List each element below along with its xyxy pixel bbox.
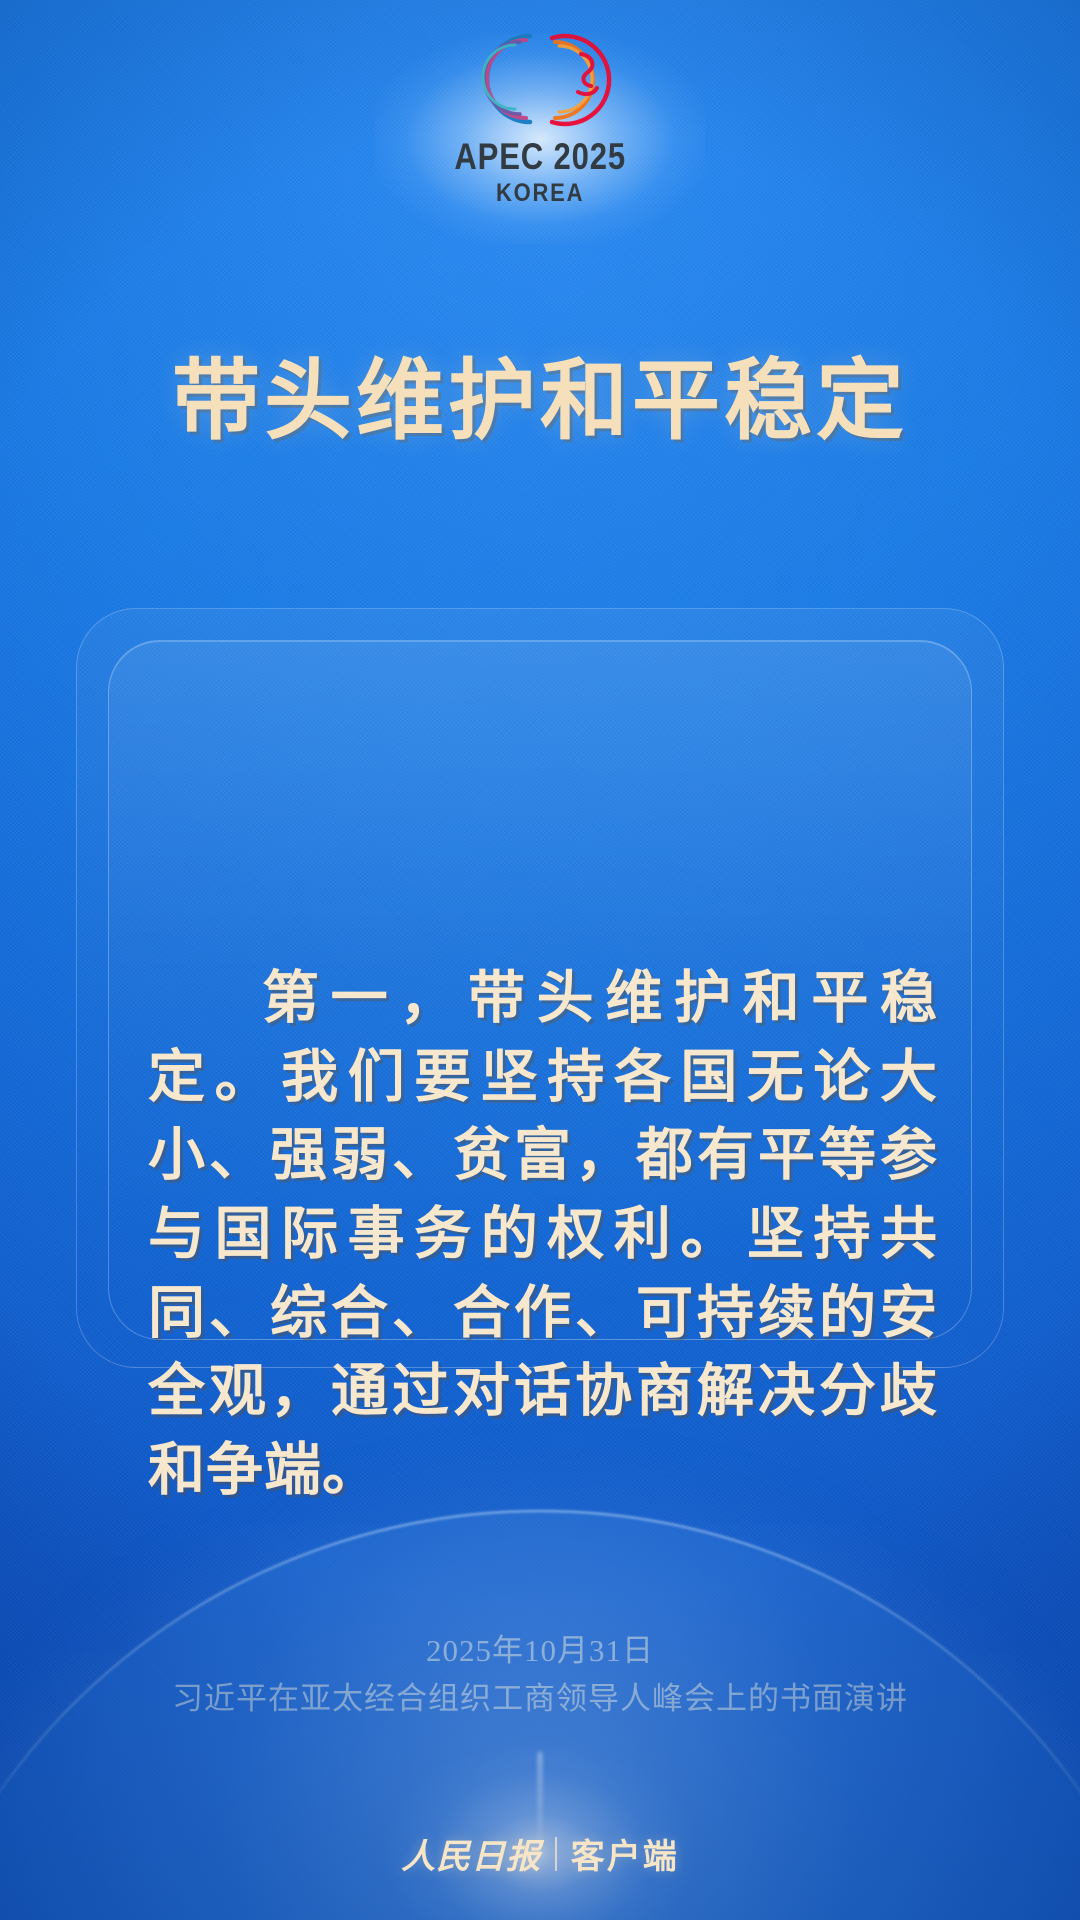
app-name: 客户端	[571, 1829, 679, 1878]
apec-logo-block: APEC 2025 KOREA	[0, 26, 1080, 208]
page-title: 带头维护和平稳定	[0, 330, 1080, 457]
logo-subtitle: KOREA	[496, 179, 584, 208]
apec-2025-korea-emblem-icon	[460, 26, 620, 132]
publisher-logo: 人民日报	[401, 1829, 541, 1878]
attribution-block: 2025年10月31日 习近平在亚太经合组织工商领导人峰会上的书面演讲	[0, 1627, 1080, 1723]
logo-title: APEC 2025	[454, 136, 626, 178]
attribution-date: 2025年10月31日	[0, 1627, 1080, 1675]
attribution-source: 习近平在亚太经合组织工商领导人峰会上的书面演讲	[0, 1675, 1080, 1723]
quote-body-text: 第一，带头维护和平稳定。我们要坚持各国无论大小、强弱、贫富，都有平等参与国际事务…	[148, 960, 938, 1511]
brand-divider	[555, 1837, 557, 1871]
poster-root: APEC 2025 KOREA 带头维护和平稳定 第一，带头维护和平稳定。我们要…	[0, 0, 1080, 1920]
brand-bar: 人民日报 客户端	[0, 1829, 1080, 1878]
